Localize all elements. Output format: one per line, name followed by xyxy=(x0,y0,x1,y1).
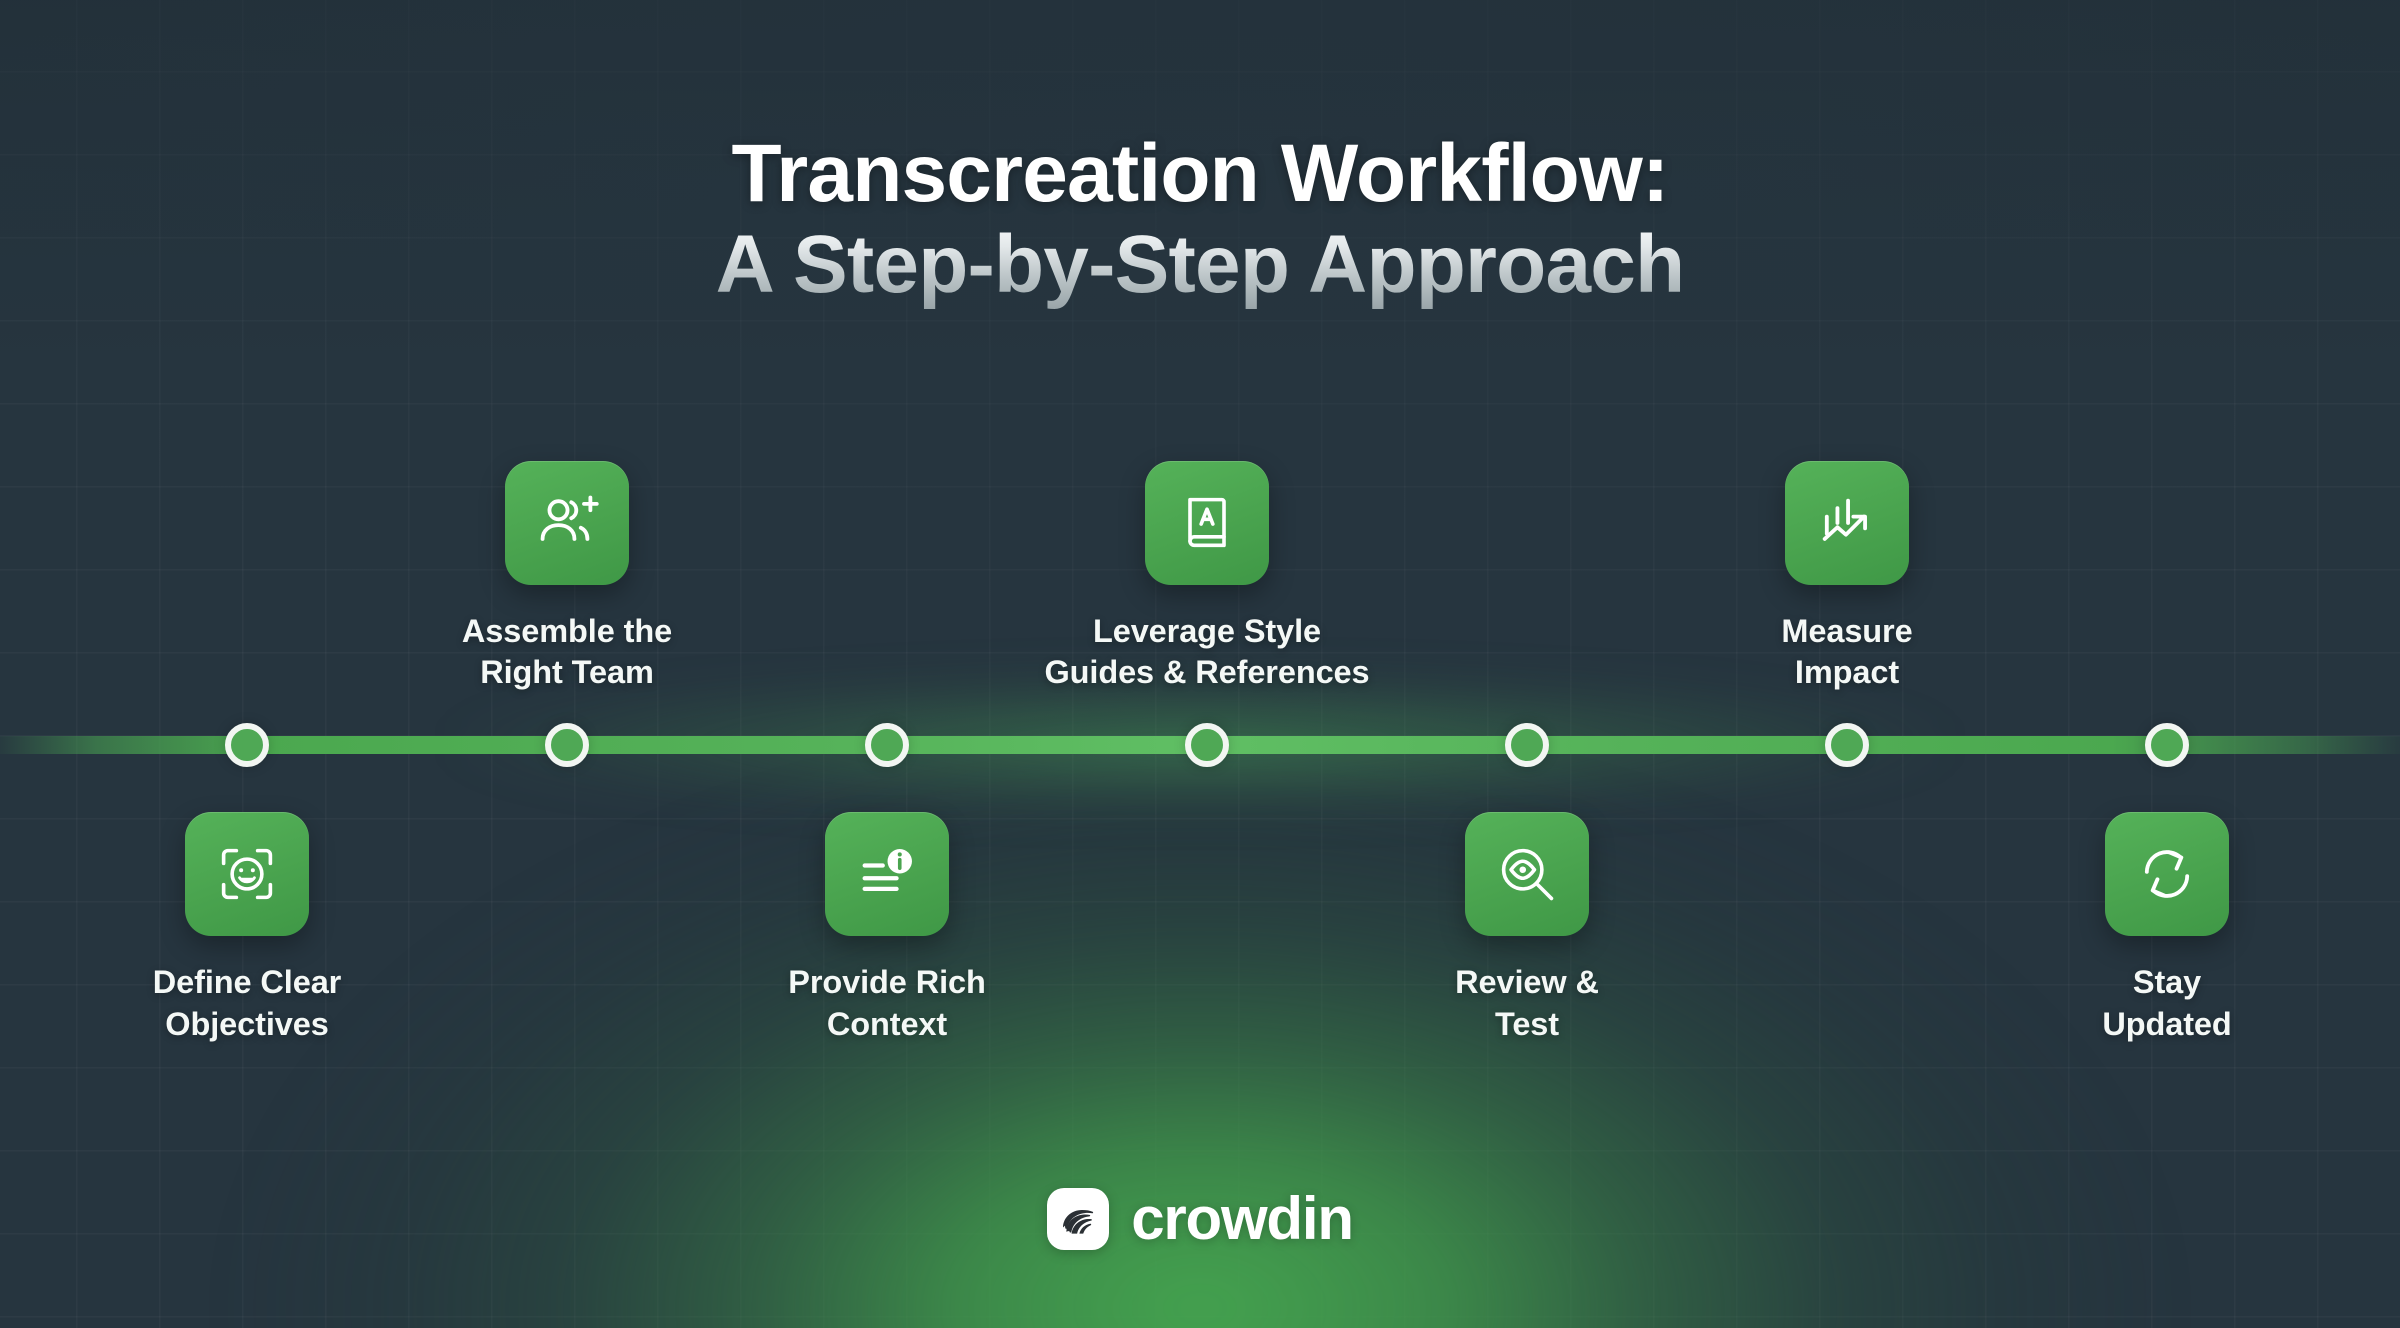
step-label-line1: Assemble the xyxy=(367,611,767,653)
step-label-line2: Right Team xyxy=(367,652,767,694)
step-review-and-test[interactable]: Review & Test xyxy=(1327,812,1727,1045)
timeline-node-7[interactable] xyxy=(2145,723,2189,767)
step-label: Define Clear Objectives xyxy=(47,962,447,1045)
step-label-line1: Stay xyxy=(1967,962,2367,1004)
document-info-icon xyxy=(853,840,921,908)
step-label: Assemble the Right Team xyxy=(367,611,767,694)
magnifier-eye-icon xyxy=(1493,840,1561,908)
step-label: Leverage Style Guides & References xyxy=(1007,611,1407,694)
step-label-line2: Impact xyxy=(1647,652,2047,694)
step-label-line2: Updated xyxy=(1967,1004,2367,1046)
timeline-node-5[interactable] xyxy=(1505,723,1549,767)
brand-name: crowdin xyxy=(1131,1189,1353,1249)
timeline-node-3[interactable] xyxy=(865,723,909,767)
step-icon-tile xyxy=(2105,812,2229,936)
step-label-line1: Measure xyxy=(1647,611,2047,653)
style-guide-book-icon xyxy=(1173,489,1241,557)
refresh-sync-icon xyxy=(2133,840,2201,908)
timeline-node-4[interactable] xyxy=(1185,723,1229,767)
step-label: Provide Rich Context xyxy=(687,962,1087,1045)
timeline-node-1[interactable] xyxy=(225,723,269,767)
step-label: Review & Test xyxy=(1327,962,1727,1045)
crowdin-logo-mark xyxy=(1047,1188,1109,1250)
timeline xyxy=(0,723,2400,767)
step-label-line1: Provide Rich xyxy=(687,962,1087,1004)
step-stay-updated[interactable]: Stay Updated xyxy=(1967,812,2367,1045)
step-icon-tile xyxy=(1145,461,1269,585)
step-icon-tile xyxy=(1465,812,1589,936)
step-icon-tile xyxy=(825,812,949,936)
page-title: Transcreation Workflow: A Step-by-Step A… xyxy=(0,128,2400,310)
infographic-canvas: Transcreation Workflow: A Step-by-Step A… xyxy=(0,0,2400,1328)
user-plus-icon xyxy=(533,489,601,557)
step-leverage-style-guides[interactable]: Leverage Style Guides & References xyxy=(1007,461,1407,694)
chart-trend-up-icon xyxy=(1813,489,1881,557)
timeline-node-2[interactable] xyxy=(545,723,589,767)
step-define-clear-objectives[interactable]: Define Clear Objectives xyxy=(47,812,447,1045)
step-label-line1: Review & xyxy=(1327,962,1727,1004)
step-provide-rich-context[interactable]: Provide Rich Context xyxy=(687,812,1087,1045)
step-label-line2: Context xyxy=(687,1004,1087,1046)
title-line-secondary: A Step-by-Step Approach xyxy=(0,219,2400,310)
step-label-line2: Test xyxy=(1327,1004,1727,1046)
step-icon-tile xyxy=(1785,461,1909,585)
step-label-line2: Guides & References xyxy=(1007,652,1407,694)
step-icon-tile xyxy=(505,461,629,585)
title-line-primary: Transcreation Workflow: xyxy=(0,128,2400,219)
step-label: Measure Impact xyxy=(1647,611,2047,694)
face-scan-icon xyxy=(213,840,281,908)
step-measure-impact[interactable]: Measure Impact xyxy=(1647,461,2047,694)
brand-logo: crowdin xyxy=(0,1188,2400,1250)
step-icon-tile xyxy=(185,812,309,936)
step-label: Stay Updated xyxy=(1967,962,2367,1045)
step-label-line1: Define Clear xyxy=(47,962,447,1004)
step-assemble-right-team[interactable]: Assemble the Right Team xyxy=(367,461,767,694)
crowdin-logo-icon xyxy=(1056,1197,1100,1241)
step-label-line1: Leverage Style xyxy=(1007,611,1407,653)
timeline-node-6[interactable] xyxy=(1825,723,1869,767)
step-label-line2: Objectives xyxy=(47,1004,447,1046)
